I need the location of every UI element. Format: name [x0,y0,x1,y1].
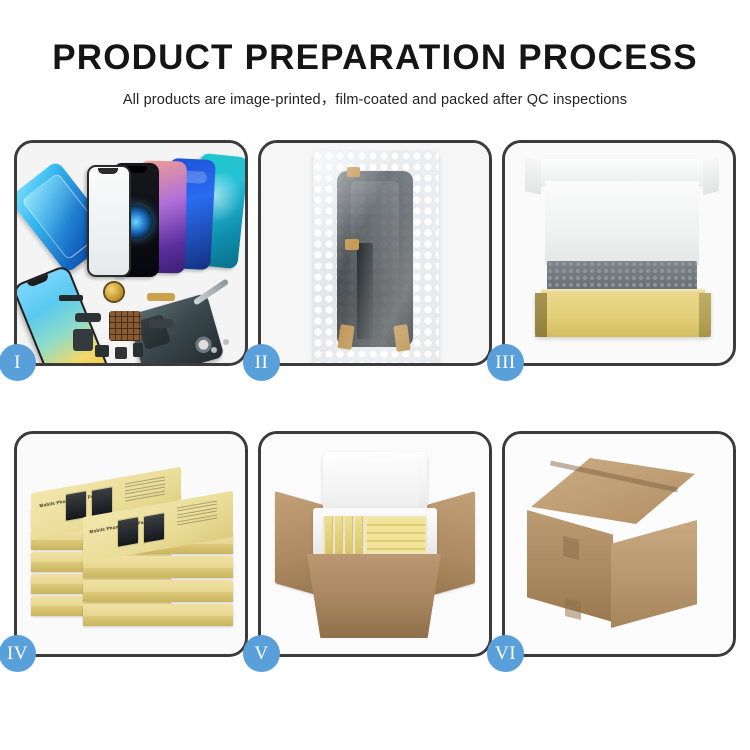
step-badge-4: IV [0,635,36,672]
phone-fan-group [75,153,245,273]
process-row-bottom: Mobile Phone Spare Parts Mobile Phone Sp… [14,431,736,657]
step-image-phone-parts-display [17,143,245,363]
box-layer [83,604,233,626]
step-badge-3: III [487,344,524,381]
screw-icon [223,339,229,345]
tweezers-icon [193,278,230,305]
carton-tape-icon [565,598,581,620]
camera-module-icon [73,329,93,351]
step-badge-6: VI [487,635,524,672]
step-image-bubble-wrapped-screen [261,143,489,363]
carton-right-face-icon [611,520,697,628]
step-image-sealed-shipping-carton [505,434,733,654]
page-subtitle: All products are image-printed，film-coat… [0,77,750,109]
small-chip-icon [133,343,143,357]
product-preparation-process-page: PRODUCT PREPARATION PROCESS All products… [0,0,750,750]
process-row-top: I II [14,140,736,366]
page-header: PRODUCT PREPARATION PROCESS All products… [0,0,750,109]
step-panel-2[interactable]: II [258,140,492,366]
yellow-box-front-icon [535,293,711,337]
step-image-stacked-yellow-boxes: Mobile Phone Spare Parts Mobile Phone Sp… [17,434,245,654]
sim-tray-icon [95,345,109,357]
vibration-motor-icon [115,347,127,359]
gold-connector-icon [147,293,175,301]
speaker-coil-icon [105,283,123,301]
step-image-open-yellow-box-with-foam [505,143,733,363]
foam-cooler-lid-icon [323,452,427,514]
box-layer [83,580,233,602]
antenna-strip-icon [59,295,83,301]
step-badge-1: I [0,344,36,381]
step-panel-1[interactable]: I [14,140,248,366]
yellow-box-stack: Mobile Phone Spare Parts Mobile Phone Sp… [27,450,237,644]
box-phone-image [143,512,165,544]
step-panel-6[interactable]: VI [502,431,736,657]
plastic-gloss-overlay [313,151,439,363]
yellow-boxes-inside-icon [323,516,427,554]
step-badge-2: II [243,344,280,381]
process-step-grid: I II [14,140,736,657]
step-panel-3[interactable]: III [502,140,736,366]
step-panel-5[interactable]: V [258,431,492,657]
step-badge-5: V [243,635,280,672]
screw-icon [211,347,217,353]
flex-cable-icon [75,313,101,322]
phone-glass-panel-icon [87,165,131,277]
box-layer [83,556,233,578]
carton-tape-icon [563,536,579,560]
step-image-foam-cooler-in-carton [261,434,489,654]
foam-back-panel-icon [545,181,699,265]
screw-tray-icon [109,311,141,341]
carton-body-icon [307,554,441,638]
page-title: PRODUCT PREPARATION PROCESS [0,0,750,77]
ribbon-cable-icon [149,319,173,328]
step-panel-4[interactable]: Mobile Phone Spare Parts Mobile Phone Sp… [14,431,248,657]
